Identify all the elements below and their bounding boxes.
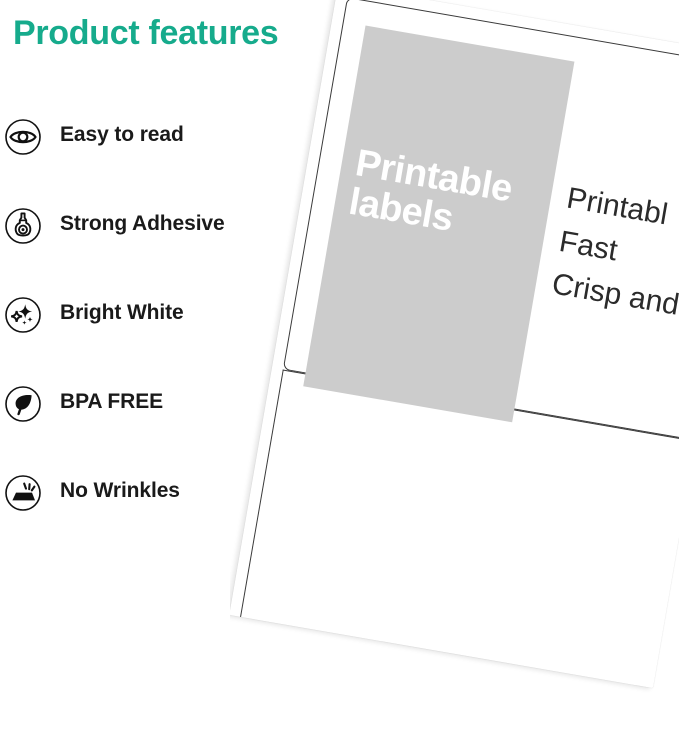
feature-label-strong-adhesive: Strong Adhesive — [60, 212, 225, 236]
leaf-icon — [4, 385, 42, 423]
feature-item-no-wrinkles: No Wrinkles — [0, 474, 330, 563]
page-title: Product features — [13, 14, 278, 53]
eye-icon — [4, 118, 42, 156]
feature-item-bright-white: Bright White — [0, 296, 330, 385]
feature-item-bpa-free: BPA FREE — [0, 385, 330, 474]
product-features-panel: Product features Easy to read — [0, 0, 330, 685]
feature-label-bright-white: Bright White — [60, 301, 184, 325]
feature-label-bpa-free: BPA FREE — [60, 390, 163, 414]
feature-label-easy-to-read: Easy to read — [60, 123, 184, 147]
glue-bottle-icon — [4, 207, 42, 245]
flat-sheet-shine-icon — [4, 474, 42, 512]
feature-item-easy-to-read: Easy to read — [0, 118, 330, 207]
feature-item-strong-adhesive: Strong Adhesive — [0, 207, 330, 296]
feature-label-no-wrinkles: No Wrinkles — [60, 479, 180, 503]
printable-label-swatch-text: Printable labels — [332, 142, 554, 254]
sparkle-icon — [4, 296, 42, 334]
feature-list: Easy to read Strong Adhesive — [0, 118, 330, 563]
